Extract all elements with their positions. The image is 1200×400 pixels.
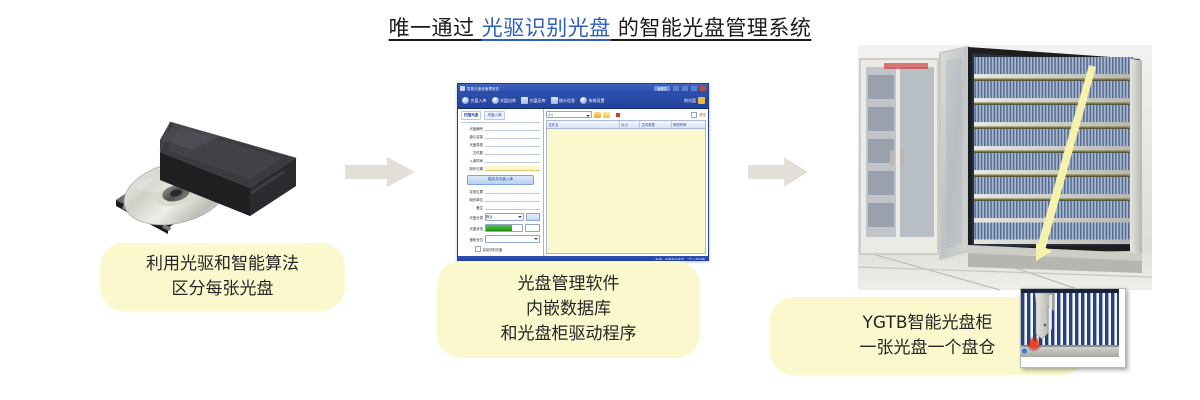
callout-software-line1: 光盘管理软件 <box>518 272 620 297</box>
minimize-button[interactable] <box>682 86 688 91</box>
row-disc-category[interactable]: 光盘分类 默认 <box>461 213 540 221</box>
toolbar-label-stats: 统计信息 <box>559 98 575 104</box>
label-capacity: 盘片容量 <box>461 134 483 139</box>
maximize-button[interactable] <box>691 86 697 91</box>
checkbox-auto-identify[interactable]: 自动识别光盘 <box>475 246 540 252</box>
toolbar-label-disc-out: 光盘出库 <box>500 98 516 104</box>
software-tab-strip[interactable]: 扫描光盘 光盘入库 <box>461 111 540 123</box>
form-field-disc-id[interactable]: 光盘编号 <box>461 126 540 131</box>
software-left-panel: 扫描光盘 光盘入库 光盘编号 盘片容量 光盘类型 文件数 入库时间 <box>458 109 544 256</box>
file-list-area[interactable] <box>546 129 706 254</box>
input-location[interactable] <box>485 189 540 194</box>
row-disc-status[interactable]: 光盘状态 <box>461 224 540 232</box>
label-location: 存放位置 <box>461 189 483 194</box>
software-right-panel: E:\ 清空 文件名 大小 文件类型 修改时间 <box>544 109 708 256</box>
stop-icon[interactable] <box>616 113 620 117</box>
current-user-chip: 管理员 <box>654 86 670 91</box>
label-disc-type: 光盘类型 <box>461 142 483 147</box>
label-file-count: 文件数 <box>461 150 483 155</box>
title-segment-1: 唯一通过 <box>389 16 482 40</box>
form-field-in-time[interactable]: 入库时间 <box>461 158 540 163</box>
toolbar-label-disc-return: 光盘还库 <box>530 98 546 104</box>
callout-cabinet-line1: YGTB智能光盘柜 <box>863 311 993 336</box>
status-text-count: 共 0 张光盘 <box>688 257 705 261</box>
progress-bar <box>485 224 523 232</box>
clear-list-link[interactable]: 清空 <box>699 112 706 117</box>
page-title: 唯一通过 光驱识别光盘 的智能光盘管理系统 <box>0 14 1200 42</box>
label-disc-status: 光盘状态 <box>461 226 483 231</box>
gear-icon <box>580 97 587 104</box>
label-cabinet-slot: 盘柜仓位 <box>461 237 483 242</box>
toolbar-button-burn-disc[interactable]: 刻光盘 <box>684 97 706 104</box>
burn-disc-icon <box>698 97 705 104</box>
column-header-filetype: 文件类型 <box>640 121 672 128</box>
toolbar-button-disc-out[interactable]: 光盘出库 <box>490 96 519 105</box>
software-body: 扫描光盘 光盘入库 光盘编号 盘片容量 光盘类型 文件数 入库时间 <box>458 109 708 256</box>
label-in-time: 入库时间 <box>461 158 483 163</box>
toolbar-label-burn-disc: 刻光盘 <box>684 98 696 104</box>
input-disc-type[interactable] <box>485 142 540 147</box>
checkbox-box-icon[interactable] <box>475 246 481 252</box>
disc-return-icon <box>521 97 528 104</box>
label-disc-id: 光盘编号 <box>461 126 483 131</box>
title-segment-accent: 光驱识别光盘 <box>482 16 611 40</box>
column-header-filename: 文件名 <box>547 121 620 128</box>
callout-software-line3: 和光盘柜驱动程序 <box>501 322 637 347</box>
status-stepper[interactable] <box>525 224 540 232</box>
toolbar-label-disc-in: 光盘入库 <box>471 98 487 104</box>
disc-slot-closeup-image <box>1020 288 1126 368</box>
software-toolbar[interactable]: 光盘入库 光盘出库 光盘还库 统计信息 系统设置 刻光盘 <box>458 93 708 109</box>
input-org[interactable] <box>485 197 540 202</box>
folder-open-icon[interactable] <box>603 112 610 118</box>
label-disc-category: 光盘分类 <box>461 215 483 220</box>
column-header-modified: 修改时间 <box>672 121 705 128</box>
input-remark[interactable] <box>485 205 540 210</box>
checkbox-label-auto-identify: 自动识别光盘 <box>483 247 503 252</box>
form-field-disc-type[interactable]: 光盘类型 <box>461 142 540 147</box>
select-all-checkbox-icon[interactable] <box>691 112 697 118</box>
column-header-size: 大小 <box>620 121 641 128</box>
close-icon[interactable] <box>700 86 706 91</box>
label-remark: 备注 <box>461 205 483 210</box>
drive-path-select[interactable]: E:\ <box>546 111 592 118</box>
toolbar-button-stats[interactable]: 统计信息 <box>549 96 578 105</box>
window-controls[interactable]: 管理员 <box>654 86 706 91</box>
callout-cabinet-line2: 一张光盘一个盘仓 <box>860 336 996 361</box>
tab-scan-disc[interactable]: 扫描光盘 <box>461 111 481 120</box>
label-org: 制作单位 <box>461 197 483 202</box>
refresh-button[interactable] <box>526 213 540 221</box>
save-and-store-disc-button[interactable]: 保存并光盘入库 <box>467 175 534 185</box>
toolbar-button-settings[interactable]: 系统设置 <box>578 96 607 105</box>
toolbar-button-disc-in[interactable]: 光盘入库 <box>460 96 489 105</box>
select-cabinet-slot[interactable] <box>485 235 540 243</box>
file-browser-toolbar[interactable]: E:\ 清空 <box>546 111 706 118</box>
help-button[interactable] <box>673 86 679 91</box>
disc-in-icon <box>462 97 469 104</box>
callout-optical-drive: 利用光驱和智能算法 区分每张光盘 <box>100 243 345 311</box>
tab-disc-in[interactable]: 光盘入库 <box>484 111 504 120</box>
input-in-time[interactable] <box>485 158 540 163</box>
folder-icon[interactable] <box>594 112 601 118</box>
callout-software-line2: 内嵌数据库 <box>526 297 611 322</box>
input-capacity[interactable] <box>485 134 540 139</box>
file-browser-options[interactable]: 清空 <box>691 112 706 118</box>
form-field-org[interactable]: 制作单位 <box>461 197 540 202</box>
software-title-bar: 智能光盘柜管理软件 管理员 <box>458 84 708 93</box>
form-field-location[interactable]: 存放位置 <box>461 189 540 194</box>
app-logo-icon <box>460 86 465 91</box>
file-table-header: 文件名 大小 文件类型 修改时间 <box>546 120 706 129</box>
toolbar-button-disc-return[interactable]: 光盘还库 <box>519 96 548 105</box>
input-file-count[interactable] <box>485 150 540 155</box>
callout-software: 光盘管理软件 内嵌数据库 和光盘柜驱动程序 <box>437 261 700 358</box>
disc-out-icon <box>492 97 499 104</box>
form-field-capacity[interactable]: 盘片容量 <box>461 134 540 139</box>
toolbar-label-settings: 系统设置 <box>589 98 605 104</box>
form-field-file-count[interactable]: 文件数 <box>461 150 540 155</box>
callout-drive-line2: 区分每张光盘 <box>172 277 274 302</box>
software-window-title: 智能光盘柜管理软件 <box>467 86 499 91</box>
input-make-date[interactable] <box>485 166 540 171</box>
select-disc-category[interactable]: 默认 <box>485 213 524 221</box>
row-cabinet-slot[interactable]: 盘柜仓位 <box>461 235 540 243</box>
form-field-make-date[interactable]: 制作日期 <box>461 166 540 171</box>
flow-arrow-drive-to-software <box>345 155 417 189</box>
form-field-remark[interactable]: 备注 <box>461 205 540 210</box>
stats-icon <box>551 97 558 104</box>
optical-drive-image <box>100 100 320 235</box>
disc-cabinet-image <box>840 45 1170 293</box>
label-make-date: 制作日期 <box>461 166 483 171</box>
flow-arrow-software-to-cabinet <box>748 155 810 189</box>
disc-management-software-window[interactable]: 智能光盘柜管理软件 管理员 光盘入库 光盘出库 光盘还库 统计信息 系统设置 <box>457 83 709 261</box>
title-segment-2: 的智能光盘管理系统 <box>611 16 812 40</box>
callout-drive-line1: 利用光驱和智能算法 <box>146 252 299 277</box>
input-disc-id[interactable] <box>485 126 540 131</box>
